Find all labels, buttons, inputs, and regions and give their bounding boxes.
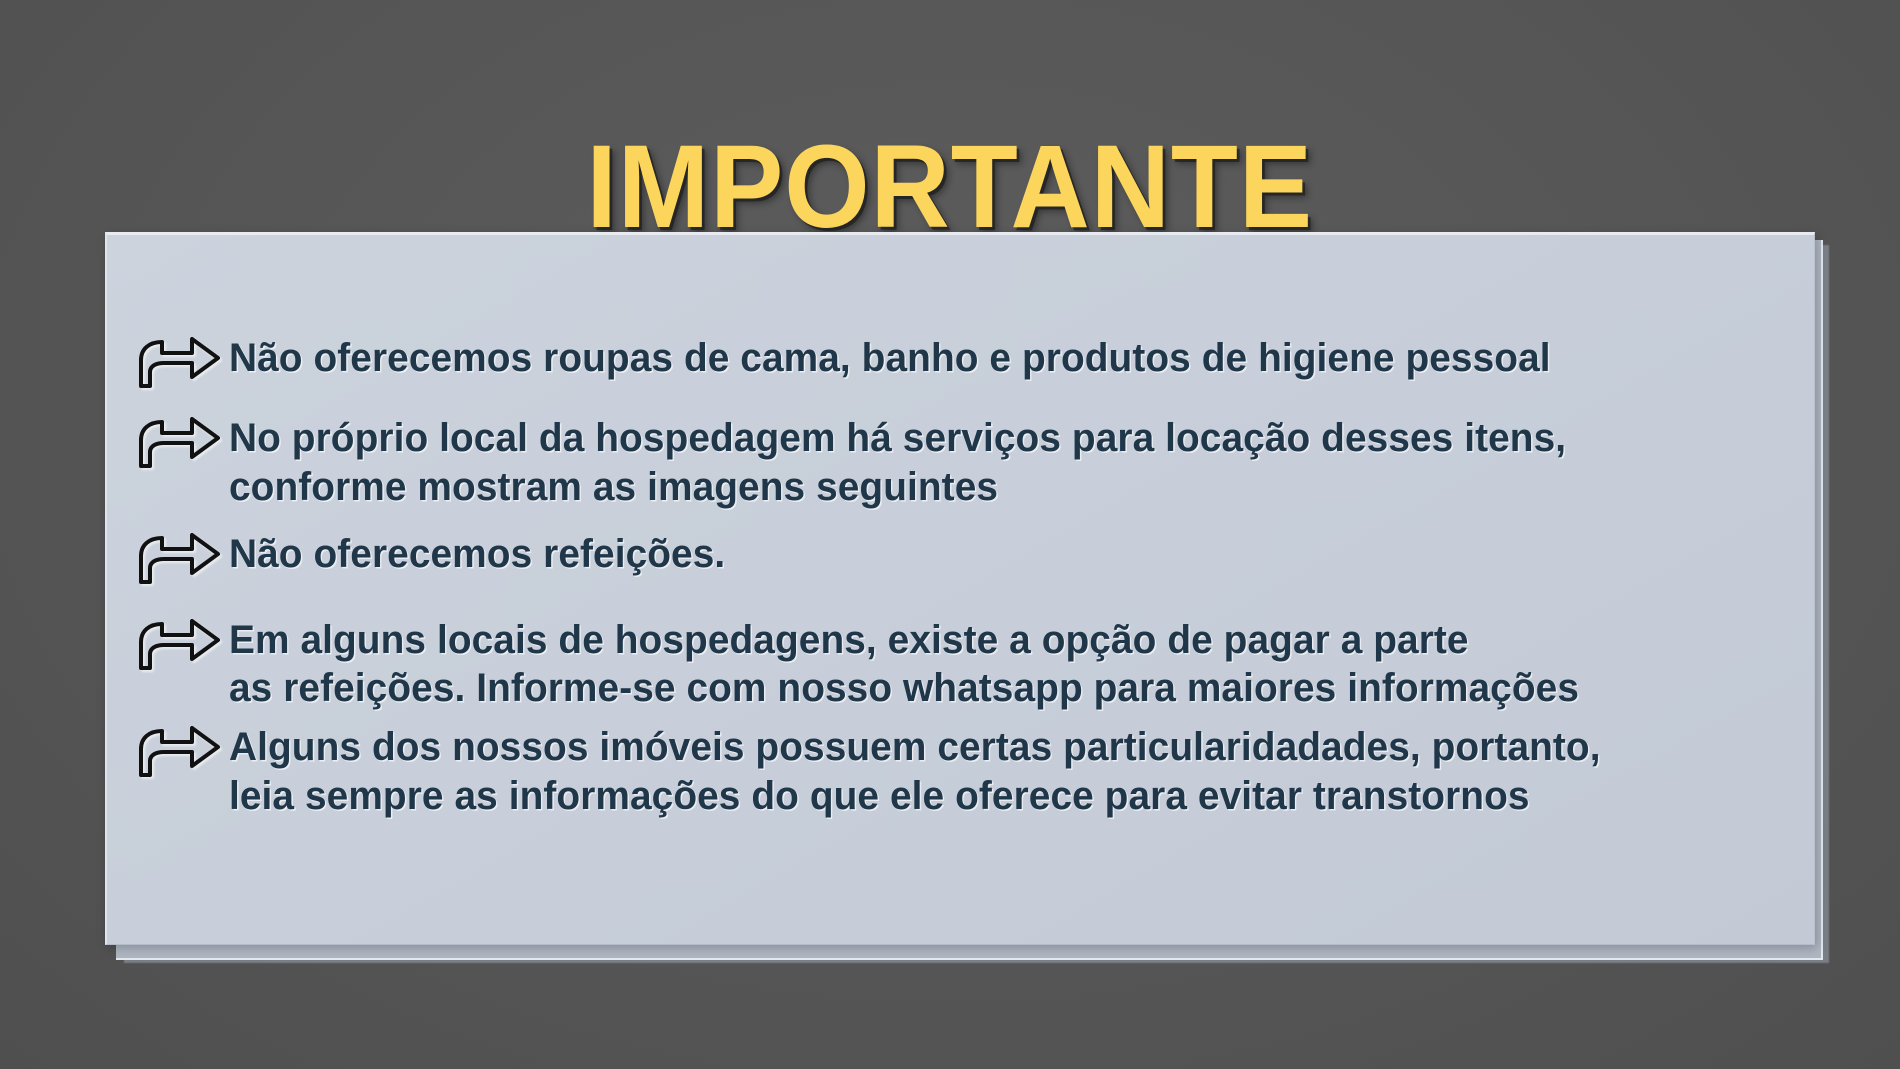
list-item: Não oferecemos roupas de cama, banho e p… [137,334,1796,392]
page-title: IMPORTANTE [587,127,1314,247]
list-item-label: Alguns dos nossos imóveis possuem certas… [229,723,1601,821]
content-panel: Não oferecemos roupas de cama, banho e p… [105,232,1815,945]
list-item-label: No próprio local da hospedagem há serviç… [229,414,1566,512]
list-item: Em alguns locais de hospedagens, existe … [137,616,1796,714]
bullet-list: Não oferecemos roupas de cama, banho e p… [137,334,1796,821]
list-item: Não oferecemos refeições. [137,530,1796,588]
slide-canvas: IMPORTANTE Não oferecemos roupas de cama… [0,0,1900,1069]
curved-right-arrow-icon [137,725,223,781]
list-item-label: Em alguns locais de hospedagens, existe … [229,616,1579,714]
list-item: Alguns dos nossos imóveis possuem certas… [137,723,1796,821]
curved-right-arrow-icon [137,336,223,392]
curved-right-arrow-icon [137,416,223,472]
curved-right-arrow-icon [137,532,223,588]
list-item: No próprio local da hospedagem há serviç… [137,414,1796,512]
curved-right-arrow-icon [137,618,223,674]
list-item-label: Não oferecemos roupas de cama, banho e p… [229,334,1551,383]
list-item-label: Não oferecemos refeições. [229,530,725,579]
